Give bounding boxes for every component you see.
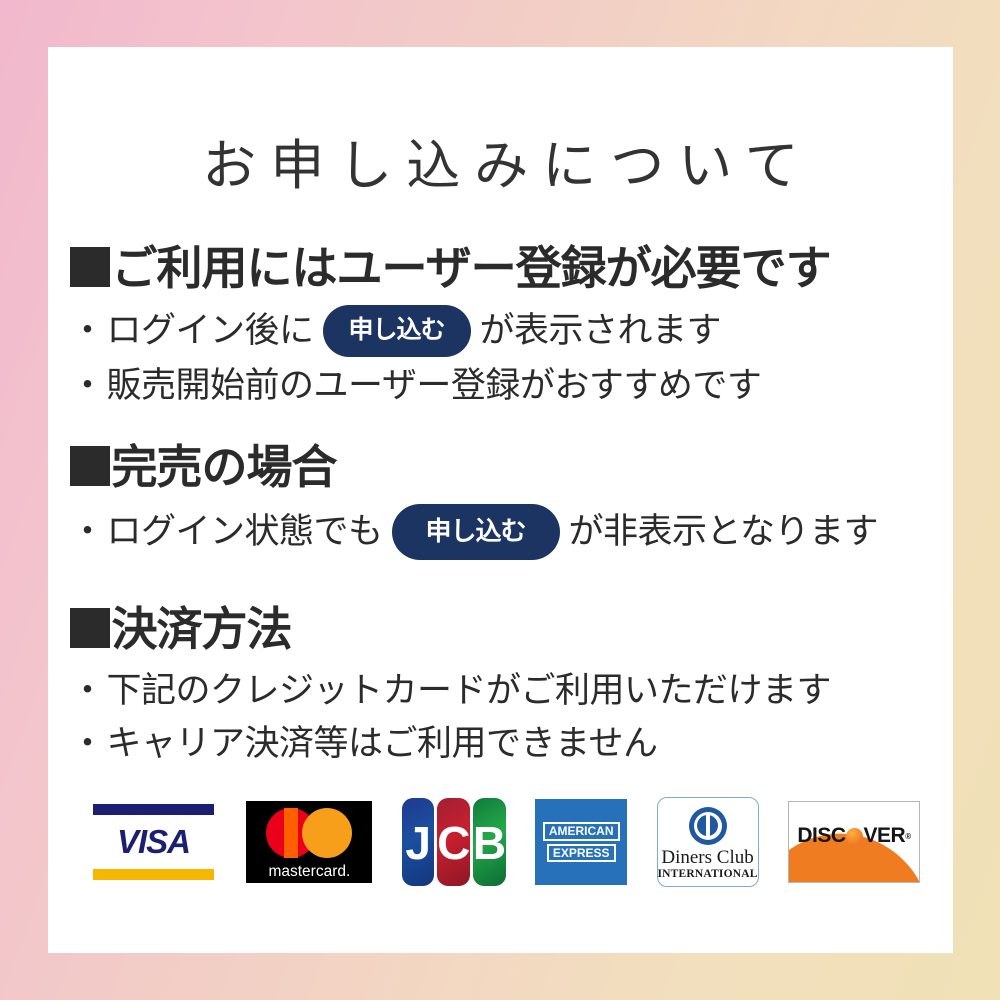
bullet-dot-icon: ・ bbox=[70, 306, 105, 356]
discover-text-after: VER bbox=[864, 824, 906, 848]
bullet-dot-icon: ・ bbox=[70, 361, 105, 411]
section-payment-methods: 決済方法 ・ 下記のクレジットカードがご利用いただけます ・ キャリア決済等はご… bbox=[70, 604, 940, 769]
section-user-registration: ご利用にはユーザー登録が必要です ・ ログイン後に 申し込む が表示されます ・… bbox=[70, 243, 940, 410]
bullet-text-after: が表示されます bbox=[480, 306, 722, 356]
diners-club-subtitle: INTERNATIONAL bbox=[657, 869, 757, 881]
diners-club-wordmark: Diners Club bbox=[661, 848, 753, 867]
apply-button-pill[interactable]: 申し込む bbox=[323, 305, 471, 357]
mastercard-yellow-circle bbox=[302, 808, 352, 858]
section-heading: ご利用にはユーザー登録が必要です bbox=[70, 243, 940, 295]
bullet-text-before: 販売開始前のユーザー登録がおすすめです bbox=[107, 361, 762, 411]
black-square-marker-icon bbox=[70, 446, 110, 486]
discover-logo-icon: DISC VER ® bbox=[788, 801, 920, 883]
jcb-letter-c: C bbox=[437, 820, 470, 866]
diners-club-split bbox=[706, 814, 710, 838]
bullet-item: ・ ログイン状態でも 申し込む が非表示となります bbox=[70, 504, 940, 560]
discover-orange-dot-icon bbox=[846, 828, 863, 845]
jcb-letter-j: J bbox=[405, 820, 431, 866]
discover-text-before: DISC bbox=[797, 824, 845, 848]
discover-wordmark: DISC VER ® bbox=[797, 824, 910, 848]
jcb-panel-red: C bbox=[437, 798, 470, 886]
bullet-item: ・ 販売開始前のユーザー登録がおすすめです bbox=[70, 361, 940, 411]
mastercard-overlap bbox=[284, 808, 298, 858]
apply-button-pill[interactable]: 申し込む bbox=[392, 504, 560, 560]
bullet-text-before: キャリア決済等はご利用できません bbox=[107, 719, 658, 769]
black-square-marker-icon bbox=[70, 608, 110, 648]
section-heading: 完売の場合 bbox=[70, 442, 940, 494]
bullet-text-before: ログイン後に bbox=[107, 306, 314, 356]
bullet-text-after: が非表示となります bbox=[569, 507, 878, 557]
section-heading-text: 完売の場合 bbox=[112, 441, 337, 493]
content-card: お申し込みについて ご利用にはユーザー登録が必要です ・ ログイン後に 申し込む… bbox=[48, 47, 953, 953]
jcb-logo-icon: J C B bbox=[402, 798, 506, 886]
bullet-item: ・ 下記のクレジットカードがご利用いただけます bbox=[70, 666, 940, 716]
accepted-card-brands: VISA mastercard. J C B bbox=[90, 792, 920, 892]
bullet-text-before: 下記のクレジットカードがご利用いただけます bbox=[107, 666, 832, 716]
section-sold-out: 完売の場合 ・ ログイン状態でも 申し込む が非表示となります bbox=[70, 442, 940, 560]
discover-registered-mark: ® bbox=[905, 832, 910, 841]
bullet-item: ・ ログイン後に 申し込む が表示されます bbox=[70, 305, 940, 357]
jcb-letter-b: B bbox=[473, 820, 506, 866]
mastercard-logo-icon: mastercard. bbox=[246, 801, 372, 883]
page-title: お申し込みについて bbox=[48, 139, 953, 193]
section-heading-text: 決済方法 bbox=[112, 603, 292, 655]
bullet-dot-icon: ・ bbox=[70, 719, 105, 769]
mastercard-wordmark: mastercard. bbox=[268, 863, 350, 881]
mastercard-circles bbox=[266, 808, 352, 858]
jcb-panel-green: B bbox=[473, 798, 506, 886]
bullet-dot-icon: ・ bbox=[70, 507, 105, 557]
amex-line-express: EXPRESS bbox=[547, 844, 616, 863]
visa-wordmark: VISA bbox=[93, 815, 214, 869]
black-square-marker-icon bbox=[70, 247, 110, 287]
american-express-logo-icon: AMERICAN EXPRESS bbox=[535, 799, 627, 885]
section-heading: 決済方法 bbox=[70, 604, 940, 656]
jcb-panel-blue: J bbox=[402, 798, 435, 886]
section-heading-text: ご利用にはユーザー登録が必要です bbox=[112, 242, 831, 294]
diners-club-logo-icon: Diners Club INTERNATIONAL bbox=[657, 797, 759, 887]
visa-logo-icon: VISA bbox=[90, 801, 217, 883]
diners-club-mark bbox=[689, 807, 727, 845]
bullet-text-before: ログイン状態でも bbox=[107, 507, 383, 557]
bullet-item: ・ キャリア決済等はご利用できません bbox=[70, 719, 940, 769]
visa-bottom-bar bbox=[93, 869, 214, 880]
bullet-dot-icon: ・ bbox=[70, 666, 105, 716]
visa-top-bar bbox=[93, 804, 214, 815]
amex-line-american: AMERICAN bbox=[543, 822, 620, 841]
poster-root: お申し込みについて ご利用にはユーザー登録が必要です ・ ログイン後に 申し込む… bbox=[0, 0, 1000, 1000]
